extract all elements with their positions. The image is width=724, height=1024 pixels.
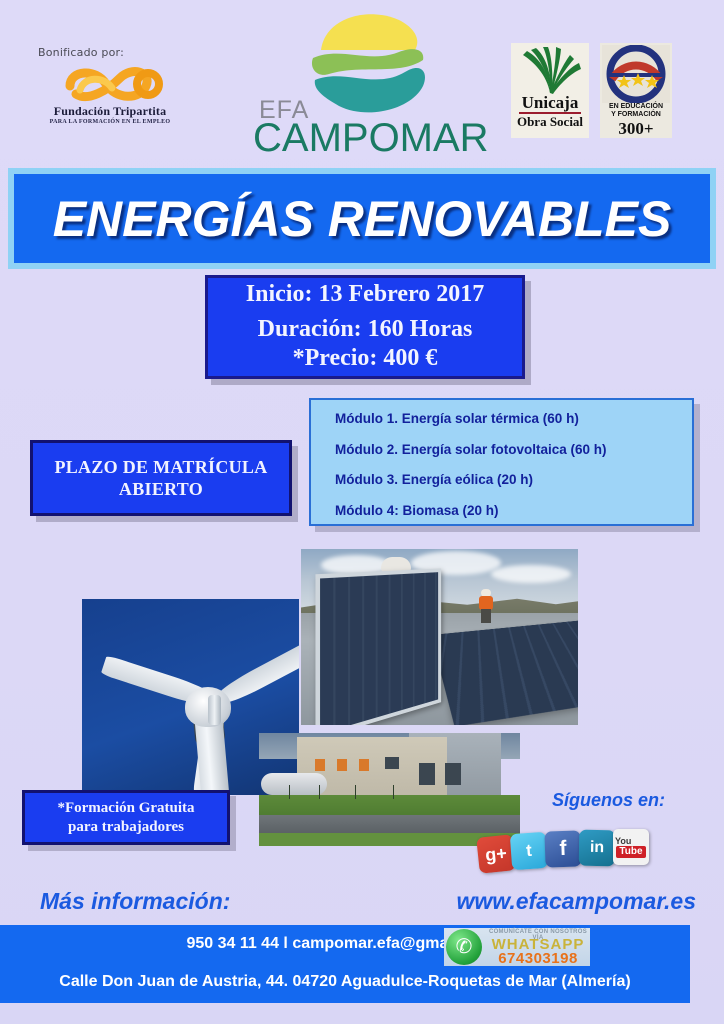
storage-tank [261,773,327,795]
page-title: ENERGÍAS RENOVABLES [53,190,672,248]
info-duration: Duración: 160 Horas [258,315,473,345]
door-2 [445,763,461,785]
whatsapp-glyph: ✆ [456,937,473,957]
turbine-hub-ring [208,695,221,725]
window-1 [315,759,325,771]
info-price: *Precio: 400 € [293,344,438,374]
solar-panel-row [431,620,578,725]
fence-post-2 [319,785,320,799]
tripartita-name: Fundación Tripartita [30,104,190,119]
logo-award-badge: EN EDUCACIÓN Y FORMACIÓN 300+ [600,43,672,138]
worker-body [479,596,493,610]
unicaja-name: Unicaja [511,93,589,113]
facebook-icon[interactable]: f [544,830,581,867]
free-training-box: *Formación Gratuita para trabajadores [22,790,230,845]
window-3 [359,759,369,771]
logo-efa-campomar: EFA CAMPOMAR [245,4,485,162]
europe-award-seal-icon [602,45,670,103]
poster-root: Bonificado por: Fundación Tripartita PAR… [0,0,724,1024]
sun-waves-circle-icon [303,6,433,118]
fence-post-4 [393,785,394,799]
logo-unicaja-obra-social: Unicaja Obra Social [511,43,589,138]
follow-us-label: Síguenos en: [552,790,665,811]
twitter-icon[interactable]: t [510,832,548,870]
formacion-line-1: *Formación Gratuita [57,799,194,818]
window-2 [337,759,347,771]
worker-background [477,589,495,623]
whatsapp-badge[interactable]: ✆ COMUNÍCATE CON NOSOTROS VÍA WHATSAPP 6… [444,928,590,966]
enrollment-open-box: PLAZO DE MATRÍCULA ABIERTO [30,440,292,516]
fence-post-1 [289,785,290,799]
info-start-date: Inicio: 13 Febrero 2017 [246,280,484,310]
course-info-box: Inicio: 13 Febrero 2017 Duración: 160 Ho… [205,275,525,379]
window-4 [385,757,399,769]
bonificado-label: Bonificado por: [38,46,124,59]
plazo-line-1: PLAZO DE MATRÍCULA [54,456,267,479]
website-link[interactable]: www.efacampomar.es [457,888,696,915]
linkedin-icon[interactable]: in [579,830,616,867]
youtube-you-text: You [615,837,631,846]
youtube-icon[interactable]: You Tube [613,829,649,865]
tripartita-subtitle: PARA LA FORMACIÓN EN EL EMPLEO [30,119,190,125]
door-1 [419,763,435,785]
formacion-line-2: para trabajadores [68,818,184,837]
fence-post-3 [355,785,356,799]
module-item-1: Módulo 1. Energía solar térmica (60 h) [335,412,692,426]
more-info-label: Más información: [40,888,230,915]
solar-panel-installation-photo [301,549,578,725]
module-item-2: Módulo 2. Energía solar fotovoltaica (60… [335,443,692,457]
whatsapp-number: 674303198 [486,950,590,967]
title-banner-inner: ENERGÍAS RENOVABLES [14,174,710,263]
modules-box: Módulo 1. Energía solar térmica (60 h) M… [309,398,694,526]
solar-panel-tilted [315,568,441,725]
worker-legs [481,609,491,623]
module-item-3: Módulo 3. Energía eólica (20 h) [335,473,692,487]
efa-campomar-wordmark: CAMPOMAR [253,116,483,161]
module-item-4: Módulo 4: Biomasa (20 h) [335,504,692,518]
header-logos: Bonificado por: Fundación Tripartita PAR… [0,0,724,165]
badge-line-2: Y FORMACIÓN [600,111,672,118]
logo-fundacion-tripartita: Bonificado por: Fundación Tripartita PAR… [30,46,190,142]
footer-address-line: Calle Don Juan de Austria, 44. 04720 Agu… [0,973,690,991]
green-fan-icon [517,47,583,95]
social-icons-row: g+ t f in You Tube [478,830,678,874]
whatsapp-icon: ✆ [446,929,482,965]
badge-number: 300+ [600,119,672,139]
badge-line-1: EN EDUCACIÓN [600,103,672,110]
unicaja-subtitle: Obra Social [511,114,589,130]
cloud-3 [491,565,571,583]
plazo-line-2: ABIERTO [119,478,203,501]
infinity-ribbon-icon [62,64,166,104]
title-banner: ENERGÍAS RENOVABLES [8,168,716,269]
youtube-tube-text: Tube [616,846,645,858]
